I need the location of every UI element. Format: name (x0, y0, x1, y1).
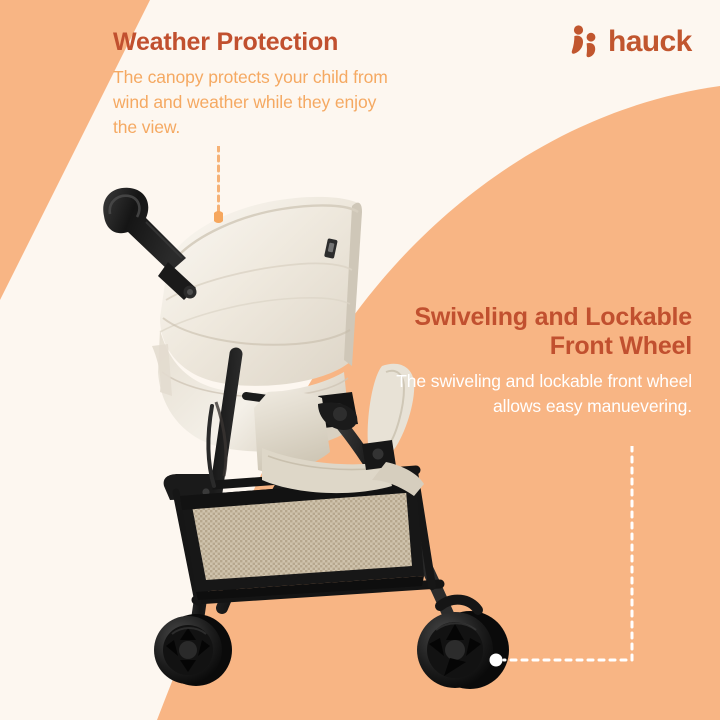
connector-dot-canopy (214, 211, 223, 223)
feature-weather-protection: Weather Protection The canopy protects y… (113, 28, 403, 140)
feature-body-front-wheel: The swiveling and lockable front wheel a… (387, 369, 692, 419)
connector-dot-front-wheel (490, 654, 503, 667)
brand-logo[interactable]: hauck (571, 25, 692, 58)
product-feature-infographic: hauck Weather Protection The canopy prot… (0, 0, 720, 720)
feature-front-wheel: Swiveling and Lockable Front Wheel The s… (387, 303, 692, 419)
feature-title-weather-protection: Weather Protection (113, 28, 403, 57)
feature-title-front-wheel: Swiveling and Lockable Front Wheel (387, 303, 692, 361)
connector-weather-protection (214, 146, 223, 224)
feature-body-weather-protection: The canopy protects your child from wind… (113, 65, 403, 140)
connector-front-wheel (488, 446, 640, 670)
brand-name: hauck (608, 27, 692, 57)
hauck-logo-icon (571, 25, 601, 58)
